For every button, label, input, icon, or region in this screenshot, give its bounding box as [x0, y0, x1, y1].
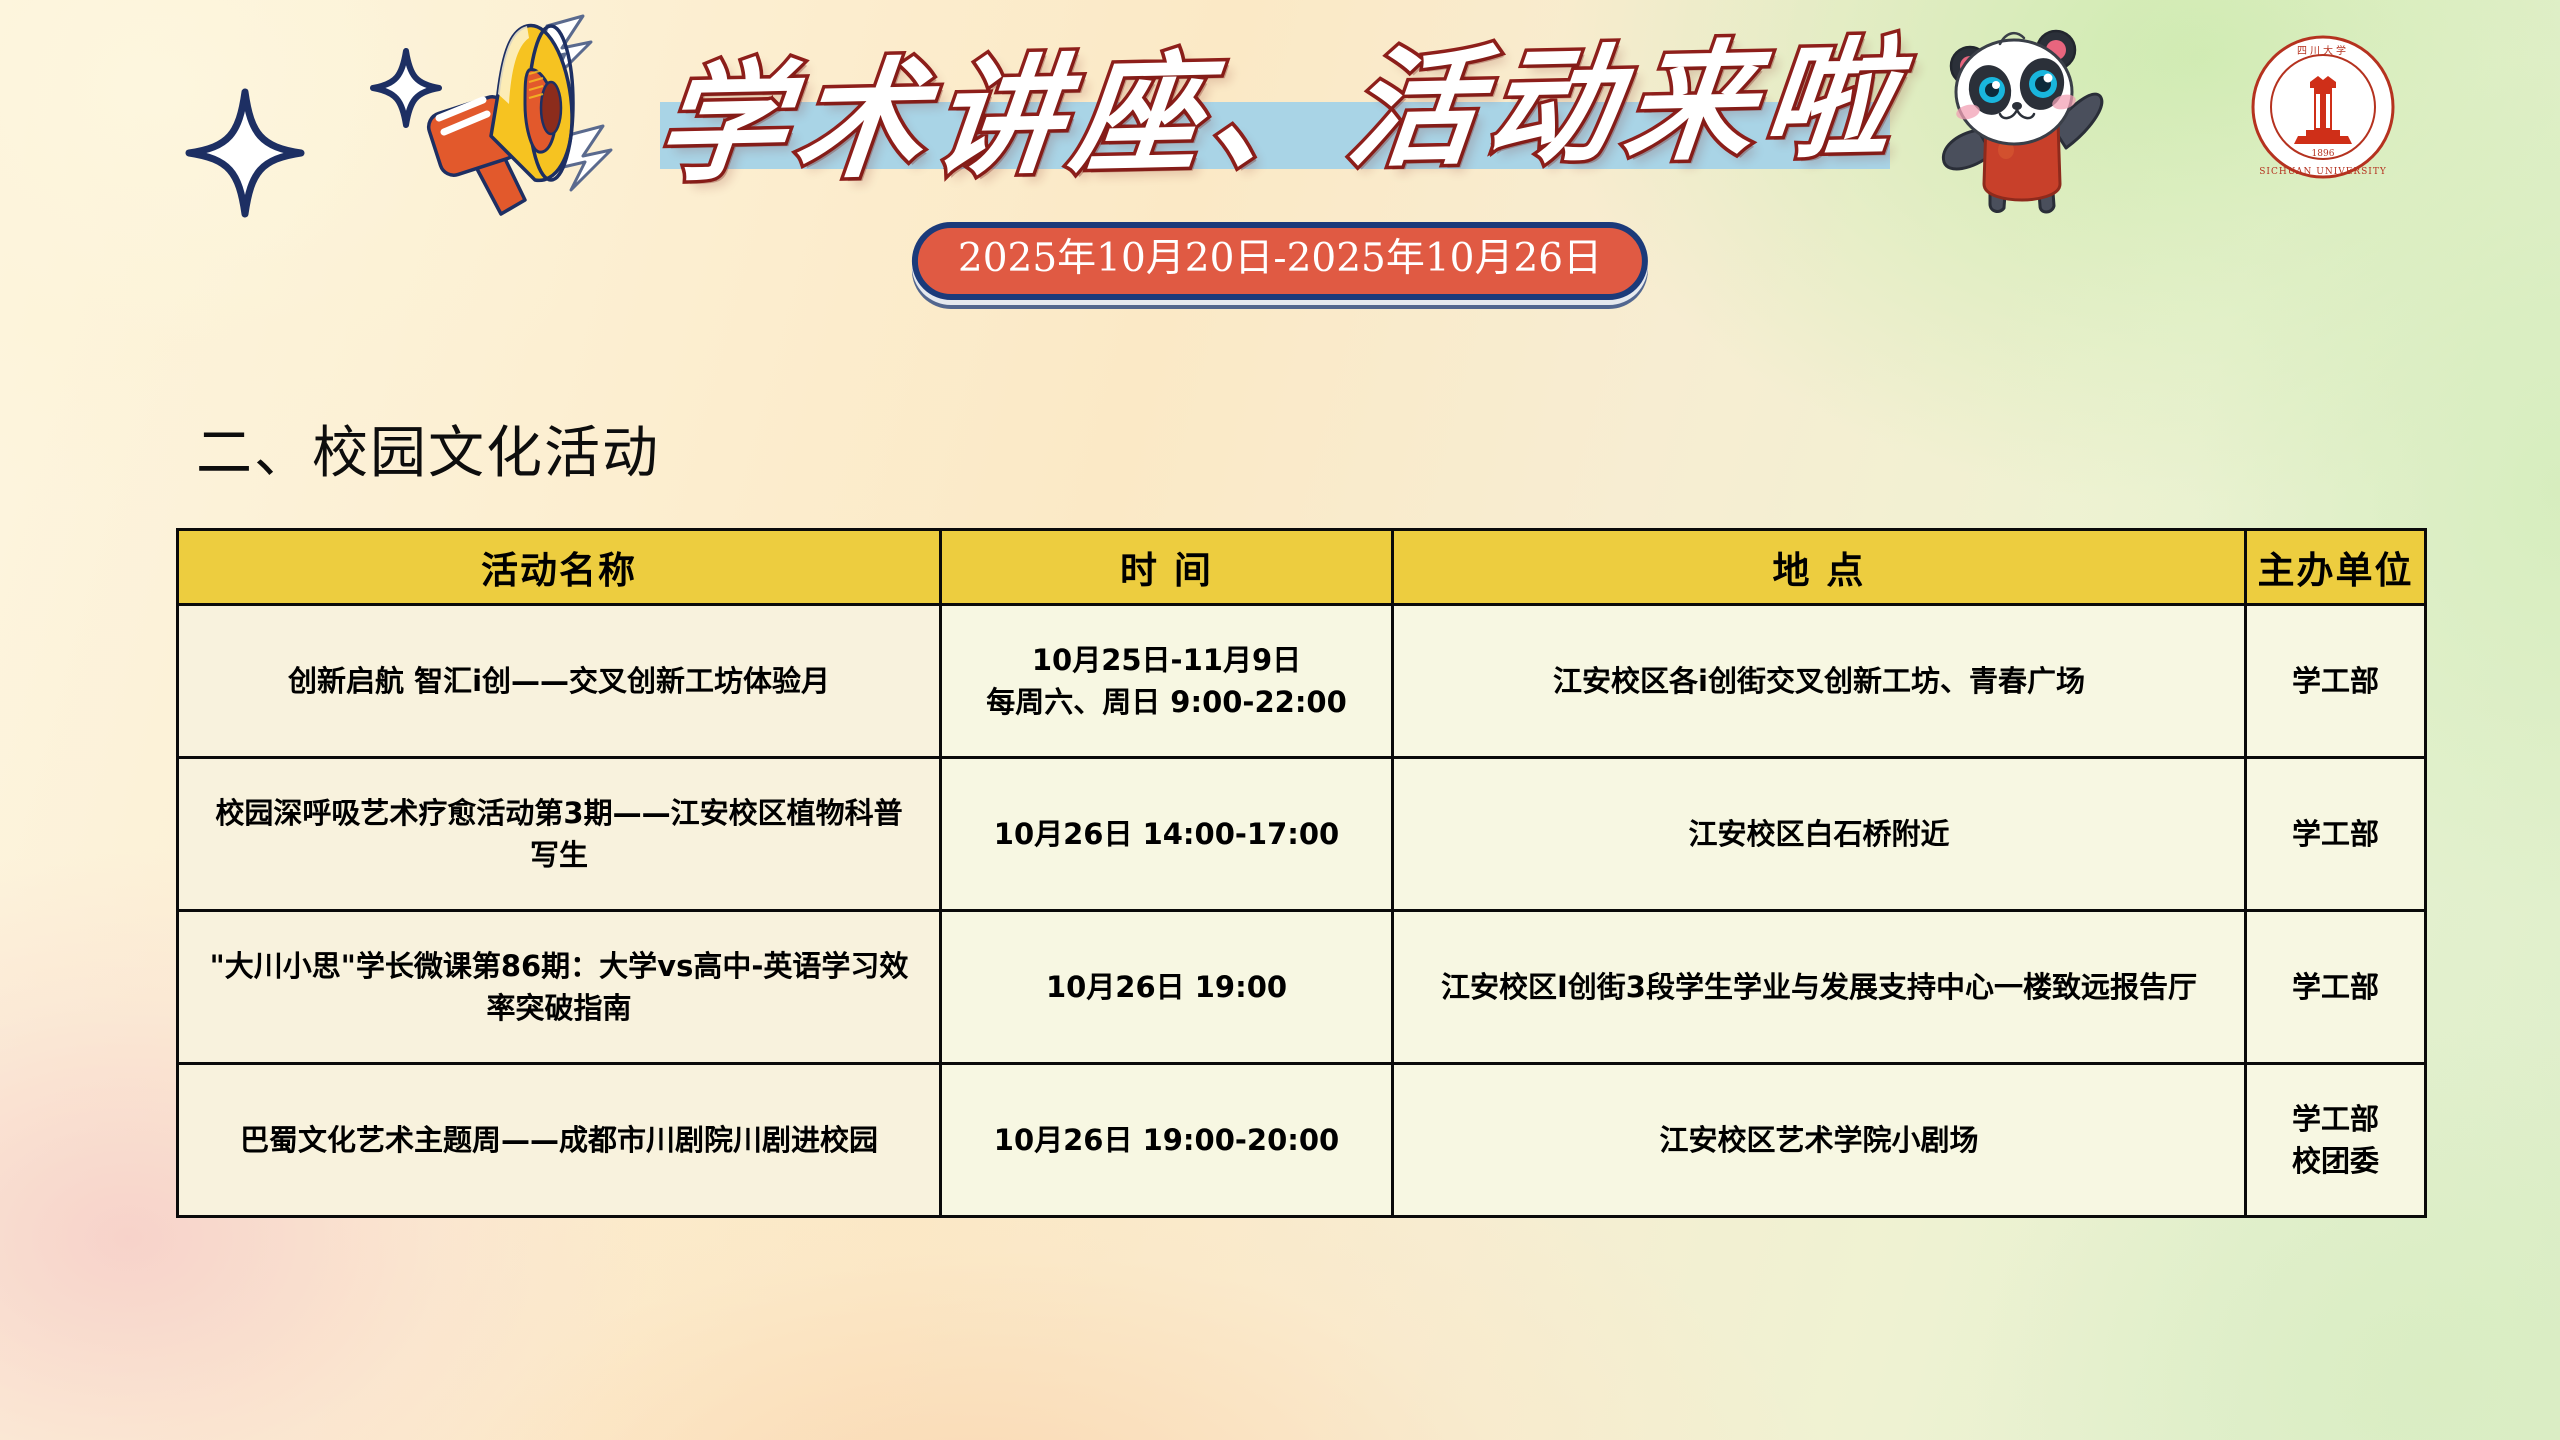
column-header-time: 时 间 — [941, 530, 1393, 605]
cell-place: 江安校区艺术学院小剧场 — [1393, 1064, 2246, 1217]
cell-place: 江安校区I创街3段学生学业与发展支持中心一楼致远报告厅 — [1393, 911, 2246, 1064]
poster-canvas: 1896 四川大学 SICHUAN UNIVERSITY 学术讲座、活动来啦 2… — [0, 0, 2560, 1440]
cell-activity-name-line: 校园深呼吸艺术疗愈活动第3期——江安校区植物科普写生 — [203, 792, 915, 876]
table-row: "大川小思"学长微课第86期：大学vs高中-英语学习效率突破指南10月26日 1… — [178, 911, 2426, 1064]
cell-activity-name-line: 巴蜀文化艺术主题周——成都市川剧院川剧进校园 — [203, 1119, 915, 1161]
table-row: 巴蜀文化艺术主题周——成都市川剧院川剧进校园10月26日 19:00-20:00… — [178, 1064, 2426, 1217]
column-header-activity-name: 活动名称 — [178, 530, 941, 605]
cell-place-line: 江安校区各i创街交叉创新工坊、青春广场 — [1408, 660, 2230, 702]
column-header-organizer: 主办单位 — [2246, 530, 2426, 605]
cell-place-line: 江安校区艺术学院小剧场 — [1408, 1119, 2230, 1161]
cell-activity-name: 校园深呼吸艺术疗愈活动第3期——江安校区植物科普写生 — [178, 758, 941, 911]
cell-place: 江安校区各i创街交叉创新工坊、青春广场 — [1393, 605, 2246, 758]
cell-organizer-line: 学工部 — [2261, 966, 2410, 1008]
table-header-row: 活动名称 时 间 地 点 主办单位 — [178, 530, 2426, 605]
cell-organizer: 学工部 — [2246, 758, 2426, 911]
cell-activity-name-line: 创新启航 智汇i创——交叉创新工坊体验月 — [203, 660, 915, 702]
table-row: 校园深呼吸艺术疗愈活动第3期——江安校区植物科普写生10月26日 14:00-1… — [178, 758, 2426, 911]
cell-time-line: 10月25日-11月9日 — [956, 639, 1377, 681]
cell-place: 江安校区白石桥附近 — [1393, 758, 2246, 911]
cell-activity-name: "大川小思"学长微课第86期：大学vs高中-英语学习效率突破指南 — [178, 911, 941, 1064]
cell-time-line: 10月26日 19:00-20:00 — [956, 1119, 1377, 1161]
schedule-table: 活动名称 时 间 地 点 主办单位 创新启航 智汇i创——交叉创新工坊体验月10… — [176, 528, 2427, 1218]
cell-organizer-line: 校团委 — [2261, 1140, 2410, 1182]
cell-time-line: 10月26日 14:00-17:00 — [956, 813, 1377, 855]
cell-organizer-line: 学工部 — [2261, 1098, 2410, 1140]
cell-activity-name: 创新启航 智汇i创——交叉创新工坊体验月 — [178, 605, 941, 758]
cell-time-line: 每周六、周日 9:00-22:00 — [956, 681, 1377, 723]
table-row: 创新启航 智汇i创——交叉创新工坊体验月10月25日-11月9日每周六、周日 9… — [178, 605, 2426, 758]
cell-activity-name: 巴蜀文化艺术主题周——成都市川剧院川剧进校园 — [178, 1064, 941, 1217]
cell-organizer-line: 学工部 — [2261, 813, 2410, 855]
cell-activity-name-line: "大川小思"学长微课第86期：大学vs高中-英语学习效率突破指南 — [203, 945, 915, 1029]
cell-organizer: 学工部 — [2246, 911, 2426, 1064]
title-area: 学术讲座、活动来啦 — [0, 42, 2560, 192]
page-title: 学术讲座、活动来啦 — [0, 21, 2560, 203]
cell-time: 10月26日 19:00 — [941, 911, 1393, 1064]
cell-time: 10月26日 19:00-20:00 — [941, 1064, 1393, 1217]
cell-place-line: 江安校区白石桥附近 — [1408, 813, 2230, 855]
schedule-table-wrapper: 活动名称 时 间 地 点 主办单位 创新启航 智汇i创——交叉创新工坊体验月10… — [176, 528, 2424, 1218]
cell-time: 10月25日-11月9日每周六、周日 9:00-22:00 — [941, 605, 1393, 758]
column-header-place: 地 点 — [1393, 530, 2246, 605]
cell-organizer: 学工部 — [2246, 605, 2426, 758]
cell-time: 10月26日 14:00-17:00 — [941, 758, 1393, 911]
cell-organizer: 学工部校团委 — [2246, 1064, 2426, 1217]
date-range-badge: 2025年10月20日-2025年10月26日 — [912, 222, 1648, 300]
cell-place-line: 江安校区I创街3段学生学业与发展支持中心一楼致远报告厅 — [1408, 966, 2230, 1008]
section-heading: 二、校园文化活动 — [196, 408, 660, 489]
cell-organizer-line: 学工部 — [2261, 660, 2410, 702]
cell-time-line: 10月26日 19:00 — [956, 966, 1377, 1008]
